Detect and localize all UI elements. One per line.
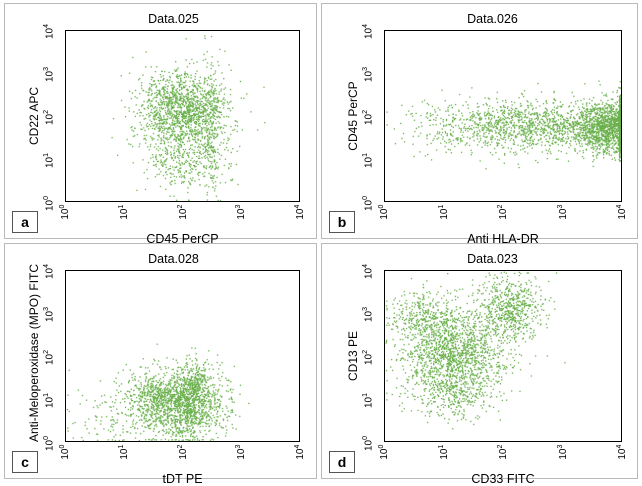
panel-b-xtick-0: 100 [378,203,390,221]
panel-d-xtick-1: 101 [437,443,449,461]
panel-a-xtick-1: 101 [118,203,130,221]
panel-d: Data.023 d 10010110210310410010110210310… [321,243,638,479]
panel-b-ytick-4: 104 [362,24,374,39]
panel-a-xtick-0: 100 [59,203,71,221]
panel-c-xtick-0: 100 [59,443,71,461]
panel-d-ylabel: CD13 PE [346,270,360,442]
panel-a-ylabel: CD22 APC [27,30,41,202]
panel-d-xtick-4: 104 [616,443,628,461]
panel-b-xtick-1: 101 [437,203,449,221]
panel-b-xtick-3: 103 [556,203,568,221]
panel-a-xtick-3: 103 [235,203,247,221]
panel-d-ytick-3: 103 [362,307,374,322]
panel-a-ytick-0: 100 [43,196,55,211]
panel-c-xtick-1: 101 [118,443,130,461]
panel-d-xtick-3: 103 [556,443,568,461]
panel-b-ytick-0: 100 [362,196,374,211]
panel-a: Data.025 a 10010110210310410010110210310… [4,3,317,239]
panel-a-letter: a [12,211,38,233]
panel-c-xtick-2: 102 [176,443,188,461]
panel-c-ytick-1: 101 [43,393,55,408]
panel-b-ytick-3: 103 [362,67,374,82]
panel-c-plot [65,270,300,442]
panel-c-ytick-2: 102 [43,350,55,365]
panel-a-ytick-3: 103 [43,67,55,82]
panel-d-ytick-2: 102 [362,350,374,365]
panel-d-ytick-0: 100 [362,436,374,451]
panel-c-xtick-3: 103 [235,443,247,461]
panel-d-plot [384,270,622,442]
panel-a-xtick-4: 104 [294,203,306,221]
panel-d-ytick-1: 101 [362,393,374,408]
panel-c-ytick-0: 100 [43,436,55,451]
panel-a-ytick-1: 101 [43,153,55,168]
panel-d-letter: d [329,451,355,473]
panel-d-xtick-0: 100 [378,443,390,461]
panel-b-scatter [385,31,621,201]
panel-b-plot [384,30,622,202]
panel-c-ylabel: Anti-Meloperoxidase (MPO) FITC [27,270,41,442]
panel-b-xtick-2: 102 [497,203,509,221]
panel-c-ytick-3: 103 [43,307,55,322]
panel-a-ytick-2: 102 [43,110,55,125]
panel-b-ylabel: CD45 PerCP [346,30,360,202]
panel-c-letter: c [12,451,38,473]
panel-c-xtick-4: 104 [294,443,306,461]
panel-a-ytick-4: 104 [43,24,55,39]
panel-d-xlabel: CD33 FITC [384,472,622,486]
panel-d-ytick-4: 104 [362,264,374,279]
panel-c-ytick-4: 104 [43,264,55,279]
figure-root: Data.025 a 10010110210310410010110210310… [0,0,642,481]
panel-c-scatter [66,271,299,441]
panel-c: Data.028 c 10010110210310410010110210310… [4,243,317,479]
panel-b-ytick-2: 102 [362,110,374,125]
panel-b-ytick-1: 101 [362,153,374,168]
panel-a-xtick-2: 102 [176,203,188,221]
panel-a-scatter [66,31,299,201]
panel-d-xtick-2: 102 [497,443,509,461]
panel-a-plot [65,30,300,202]
panel-b-xtick-4: 104 [616,203,628,221]
panel-b: Data.026 b 10010110210310410010110210310… [321,3,638,239]
panel-b-letter: b [329,211,355,233]
panel-c-xlabel: tDT PE [65,472,300,486]
panel-d-scatter [385,271,621,441]
